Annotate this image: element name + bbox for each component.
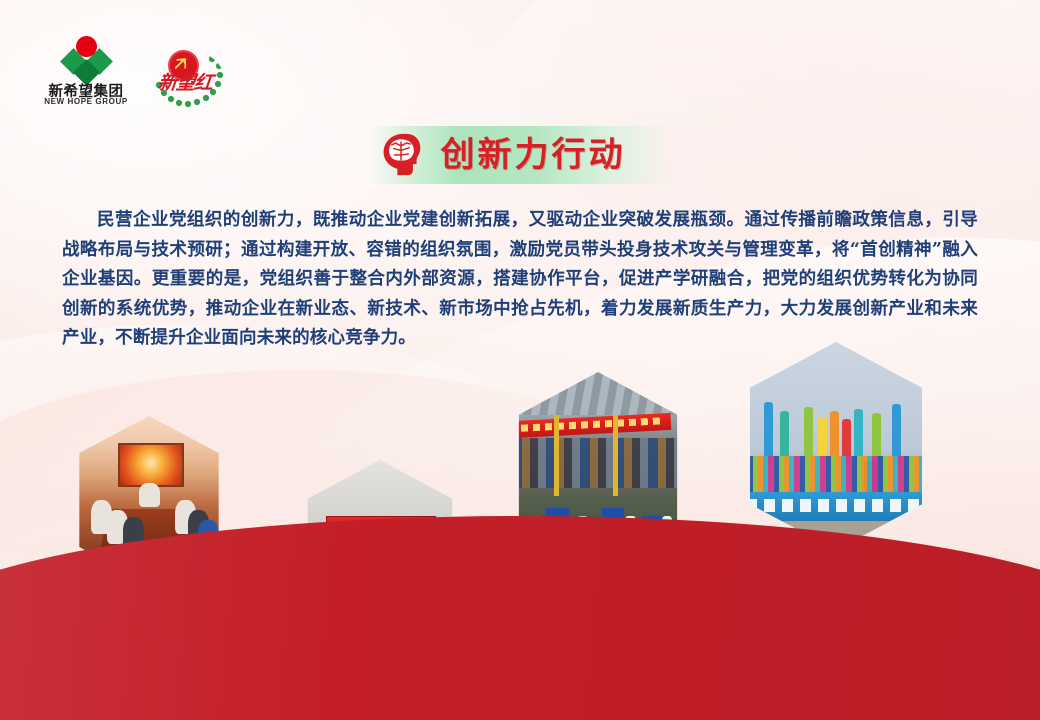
body-paragraph: 民营企业党组织的创新力，既推动企业党建创新拓展，又驱动企业突破发展瓶颈。通过传播… — [62, 206, 978, 354]
event-ground — [736, 521, 936, 550]
workshop-banner — [513, 412, 672, 438]
page-title: 创新力行动 — [441, 138, 626, 172]
new-hope-name-en: NEW HOPE GROUP — [38, 97, 134, 106]
event-banner — [736, 492, 936, 523]
photo-meeting-room[interactable] — [68, 416, 230, 584]
workshop-roof — [506, 372, 690, 415]
party-calligraphy-text: 新望红 — [153, 74, 217, 93]
head-brain-icon — [379, 132, 423, 178]
photo-workshop-image — [506, 372, 690, 566]
slide-page: 新希望集团 NEW HOPE GROUP — [0, 0, 1040, 720]
title-band: 创新力行动 — [369, 126, 672, 184]
photo-skills-ceremony-image — [296, 460, 464, 636]
ceremony-backdrop — [326, 516, 436, 564]
event-crowd — [742, 456, 930, 493]
workshop-racks — [512, 438, 685, 488]
photo-workshop[interactable] — [506, 372, 690, 566]
photo-outdoor-event-image — [736, 342, 936, 550]
title-section: 创新力行动 — [0, 126, 1040, 184]
logo-group: 新希望集团 NEW HOPE GROUP — [38, 36, 226, 110]
ceremony-banner — [298, 590, 463, 620]
new-hope-group-logo: 新希望集团 NEW HOPE GROUP — [38, 36, 134, 110]
photo-outdoor-event[interactable] — [736, 342, 936, 550]
party-brand-logo: 新望红 — [148, 48, 226, 110]
meeting-screen — [118, 443, 184, 487]
ceremony-floor — [296, 620, 464, 636]
photo-skills-ceremony[interactable] — [296, 460, 464, 636]
photo-meeting-room-image — [68, 416, 230, 584]
new-hope-mark-icon — [38, 36, 134, 82]
